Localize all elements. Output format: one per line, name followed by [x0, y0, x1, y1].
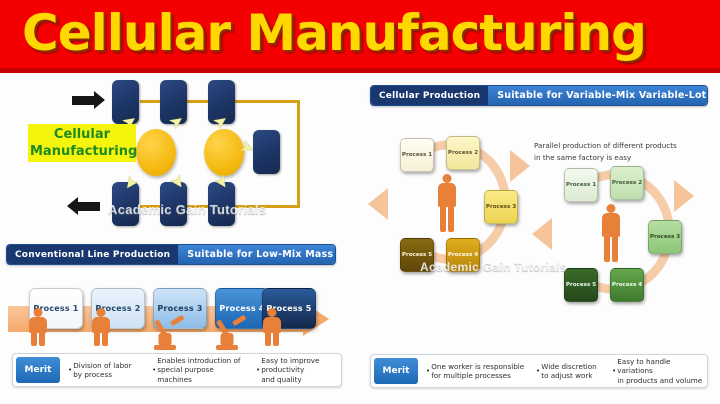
merit-item-1-line2: for multiple processes: [431, 371, 511, 380]
merit-item-3-line1: Easy to handle variations: [617, 357, 670, 376]
merit-badge: Merit: [374, 358, 418, 384]
merit-item-1: • Division of labor by process: [63, 354, 147, 386]
cell-green-process-2: Process 2: [610, 166, 644, 200]
merit-item-3: • Easy to improve productivity and quali…: [251, 354, 341, 386]
input-arrow-shaft: [72, 96, 94, 105]
conventional-header-right: Suitable for Low-Mix Mass Production: [178, 245, 336, 264]
merit-item-1: • One worker is responsible for multiple…: [421, 355, 531, 387]
merit-item-2: • Enables introduction of special purpos…: [147, 354, 251, 386]
cellular-production-panel: Cellular Production Suitable for Variabl…: [360, 78, 720, 404]
conventional-header-bar: Conventional Line Production Suitable fo…: [6, 244, 336, 265]
slide-root: Cellular Manufacturing ➤ ➤ ➤ ➤: [0, 0, 720, 404]
worker-figure-1: [27, 308, 49, 348]
cell-green-worker: [600, 204, 622, 264]
flow-connector: [297, 100, 300, 208]
merit-item-3: • Easy to handle variations in products …: [607, 355, 707, 387]
cellular-manufacturing-diagram: ➤ ➤ ➤ ➤ ➤ ➤ ➤ Academic Gain Tutorials: [0, 74, 358, 234]
merit-item-2-line1: Wide discretion: [541, 362, 596, 371]
flow-connector: [232, 100, 300, 103]
cell-yellow-process-4: Process 4: [446, 238, 480, 272]
machine-4: [253, 130, 280, 174]
conventional-merit-row: Merit • Division of labor by process • E…: [12, 353, 342, 387]
cell-yellow-process-3: Process 3: [484, 190, 518, 224]
cell-output-arrow: [510, 150, 530, 182]
cell-green-process-3: Process 3: [648, 220, 682, 254]
cellular-header-bar: Cellular Production Suitable for Variabl…: [370, 85, 708, 106]
cellular-note-line2: in the same factory is easy: [534, 152, 631, 163]
bullet-icon: •: [426, 366, 430, 376]
merit-item-2-line2: to adjust work: [541, 371, 592, 380]
conventional-line-production-panel: Conventional Line Production Suitable fo…: [0, 236, 358, 404]
cellular-note-line1: Parallel production of different product…: [534, 140, 677, 151]
page-title: Cellular Manufacturing: [22, 4, 646, 62]
cell-green-process-5: Process 5: [564, 268, 598, 302]
merit-item-3-line2: and quality: [261, 375, 301, 384]
bullet-icon: •: [152, 365, 156, 375]
cellular-header-right: Suitable for Variable-Mix Variable-Lot P…: [488, 86, 708, 105]
cell-output-arrow: [674, 180, 694, 212]
cellular-merit-row: Merit • One worker is responsible for mu…: [370, 354, 708, 388]
bullet-icon: •: [68, 365, 72, 375]
merit-item-2-line2: special purpose machines: [157, 365, 214, 384]
robot-arm-1: [150, 304, 180, 350]
bullet-icon: •: [536, 366, 540, 376]
merit-item-1-line1: One worker is responsible: [431, 362, 524, 371]
output-arrow-shaft: [78, 202, 100, 211]
input-arrow-head: [94, 91, 105, 109]
output-arrow-head: [67, 197, 78, 215]
merit-item-3-line1: Easy to improve productivity: [261, 356, 319, 375]
worker-oval-left: [136, 129, 176, 176]
robot-arm-2: [212, 304, 242, 350]
cell-input-arrow: [368, 188, 388, 220]
cell-yellow-process-2: Process 2: [446, 136, 480, 170]
merit-item-1-line2: by process: [73, 370, 112, 379]
title-banner: Cellular Manufacturing: [0, 0, 720, 72]
cell-yellow-worker: [436, 174, 458, 234]
merit-item-2-line1: Enables introduction of: [157, 356, 240, 365]
cell-input-arrow: [532, 218, 552, 250]
merit-item-3-line2: in products and volume: [617, 376, 702, 385]
merit-badge: Merit: [16, 357, 60, 383]
cellular-header-left: Cellular Production: [371, 86, 488, 105]
bullet-icon: •: [256, 365, 260, 375]
cell-green-process-4: Process 4: [610, 268, 644, 302]
worker-figure-2: [90, 308, 112, 348]
conventional-header-left: Conventional Line Production: [7, 245, 178, 264]
merit-item-2: • Wide discretion to adjust work: [531, 355, 607, 387]
worker-figure-3: [261, 308, 283, 348]
bullet-icon: •: [612, 366, 616, 376]
cell-yellow-process-1: Process 1: [400, 138, 434, 172]
merit-item-1-line1: Division of labor: [73, 361, 131, 370]
cell-green-process-1: Process 1: [564, 168, 598, 202]
banner-underline: [0, 68, 720, 73]
cell-yellow-process-5: Process 5: [400, 238, 434, 272]
